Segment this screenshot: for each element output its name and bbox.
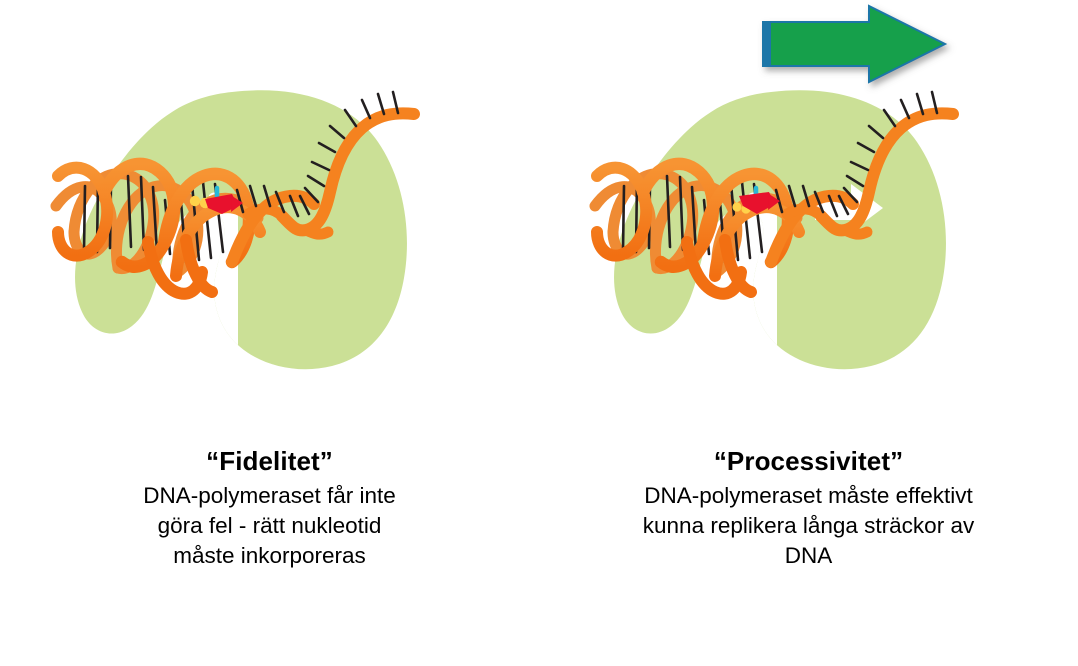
motion-arrow-right <box>763 6 945 82</box>
figure-fidelity <box>0 0 539 440</box>
panel-processivity: “Processivitet” DNA-polymeraset måste ef… <box>539 0 1078 666</box>
nucleotide-dot-1 <box>190 196 200 206</box>
caption-line: DNA <box>574 541 1044 571</box>
caption-line: måste inkorporeras <box>55 541 485 571</box>
caption-body-fidelity: DNA-polymeraset får inte göra fel - rätt… <box>55 481 485 571</box>
slide-canvas: “Fidelitet” DNA-polymeraset får inte gör… <box>0 0 1078 666</box>
nucleotide-dot-1 <box>732 202 741 211</box>
caption-fidelity: “Fidelitet” DNA-polymeraset får inte gör… <box>0 446 539 570</box>
caption-title-processivity: “Processivitet” <box>539 446 1078 477</box>
caption-line: kunna replikera långa sträckor av <box>574 511 1044 541</box>
caption-line: göra fel - rätt nukleotid <box>55 511 485 541</box>
panel-fidelity: “Fidelitet” DNA-polymeraset får inte gör… <box>0 0 539 666</box>
dna-polymerase-fidelity-illustration <box>0 0 539 440</box>
caption-line: DNA-polymeraset måste effektivt <box>574 481 1044 511</box>
caption-line: DNA-polymeraset får inte <box>55 481 485 511</box>
caption-processivity: “Processivitet” DNA-polymeraset måste ef… <box>539 446 1078 570</box>
figure-processivity <box>539 0 1078 440</box>
dna-polymerase-processivity-illustration <box>539 0 1078 440</box>
caption-body-processivity: DNA-polymeraset måste effektivt kunna re… <box>574 481 1044 571</box>
caption-title-fidelity: “Fidelitet” <box>0 446 539 477</box>
